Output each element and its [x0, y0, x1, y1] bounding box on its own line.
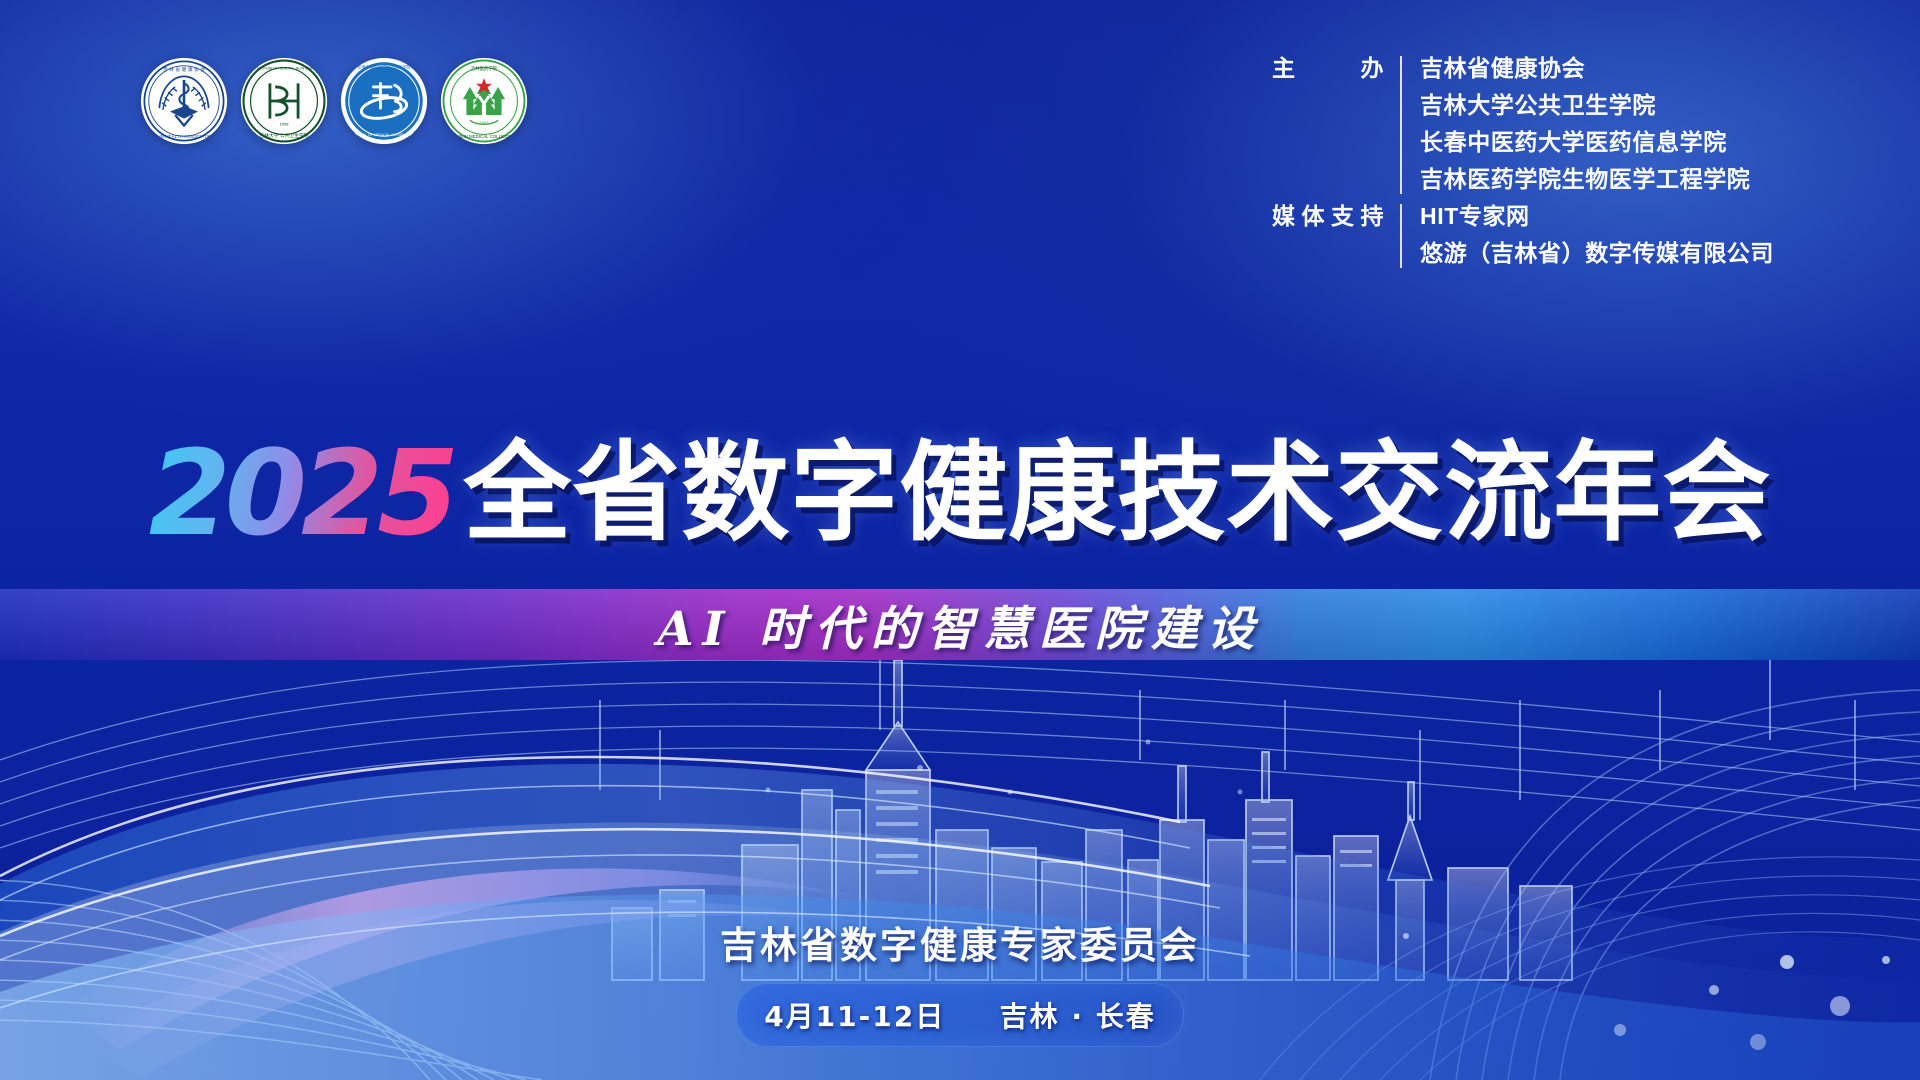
organizer-item: HIT专家网 [1420, 198, 1774, 235]
title-year: 2025 [149, 434, 453, 552]
committee-name: 吉林省数字健康专家委员会 [0, 915, 1920, 969]
jilin-medical-college-logo: 吉林医药学院 1952 JILIN MEDICAL COLLEGE [440, 57, 528, 145]
svg-text:1958: 1958 [280, 122, 290, 127]
organizer-values-host: 吉林省健康协会 吉林大学公共卫生学院 长春中医药大学医药信息学院 吉林医药学院生… [1402, 50, 1750, 198]
main-title: 2025 全省数字健康技术交流年会 [0, 430, 1920, 548]
subtitle-text: AI 时代的智慧医院建设 [657, 590, 1263, 659]
jilin-health-association-logo: 吉 林 省 健 康 协 会 JILIN HEALTH ASSOCIATION [140, 57, 228, 145]
subtitle-band: AI 时代的智慧医院建设 [0, 589, 1920, 660]
date-location-pill: 4月11-12日 吉林 · 长春 [736, 983, 1184, 1047]
svg-text:1952: 1952 [480, 120, 489, 125]
organizers-block: 主办 吉林省健康协会 吉林大学公共卫生学院 长春中医药大学医药信息学院 吉林医药… [1272, 50, 1774, 272]
organizer-item: 悠游（吉林省）数字传媒有限公司 [1420, 235, 1774, 272]
organizer-group-host: 主办 吉林省健康协会 吉林大学公共卫生学院 长春中医药大学医药信息学院 吉林医药… [1272, 50, 1774, 198]
organizer-logo-row: 吉 林 省 健 康 协 会 JILIN HEALTH ASSOCIATION S… [140, 57, 528, 145]
svg-text:JILIN HEALTH ASSOCIATION: JILIN HEALTH ASSOCIATION [153, 134, 214, 139]
svg-text:长春中医药大学医药信息学院: 长春中医药大学医药信息学院 [358, 63, 410, 69]
organizer-item: 吉林省健康协会 [1420, 50, 1750, 87]
organizer-item: 吉林医药学院生物医学工程学院 [1420, 161, 1750, 198]
organizer-label-media: 媒体支持 [1272, 198, 1400, 235]
organizer-item: 长春中医药大学医药信息学院 [1420, 124, 1750, 161]
organizer-values-media: HIT专家网 悠游（吉林省）数字传媒有限公司 [1402, 198, 1774, 272]
event-date: 4月11-12日 [764, 995, 945, 1035]
conference-banner: 吉 林 省 健 康 协 会 JILIN HEALTH ASSOCIATION S… [0, 0, 1920, 1080]
svg-text:SCHOOL OF PUBLIC HEALTH, JILIN: SCHOOL OF PUBLIC HEALTH, JILIN UNIVERSIT… [240, 65, 328, 70]
title-text: 全省数字健康技术交流年会 [463, 440, 1771, 548]
svg-text:SCHOOL OF MEDICAL INFORMATION: SCHOOL OF MEDICAL INFORMATION [351, 133, 417, 137]
svg-text:JILIN MEDICAL COLLEGE: JILIN MEDICAL COLLEGE [458, 134, 511, 139]
organizer-group-media: 媒体支持 HIT专家网 悠游（吉林省）数字传媒有限公司 [1272, 198, 1774, 272]
jilin-university-public-health-logo: SCHOOL OF PUBLIC HEALTH, JILIN UNIVERSIT… [240, 57, 328, 145]
event-location: 吉林 · 长春 [1000, 995, 1156, 1035]
organizer-label-host: 主办 [1272, 50, 1400, 87]
organizer-item: 吉林大学公共卫生学院 [1420, 87, 1750, 124]
school-of-medical-information-logo: 长春中医药大学医药信息学院 SCHOOL OF MEDICAL INFORMAT… [340, 57, 428, 145]
